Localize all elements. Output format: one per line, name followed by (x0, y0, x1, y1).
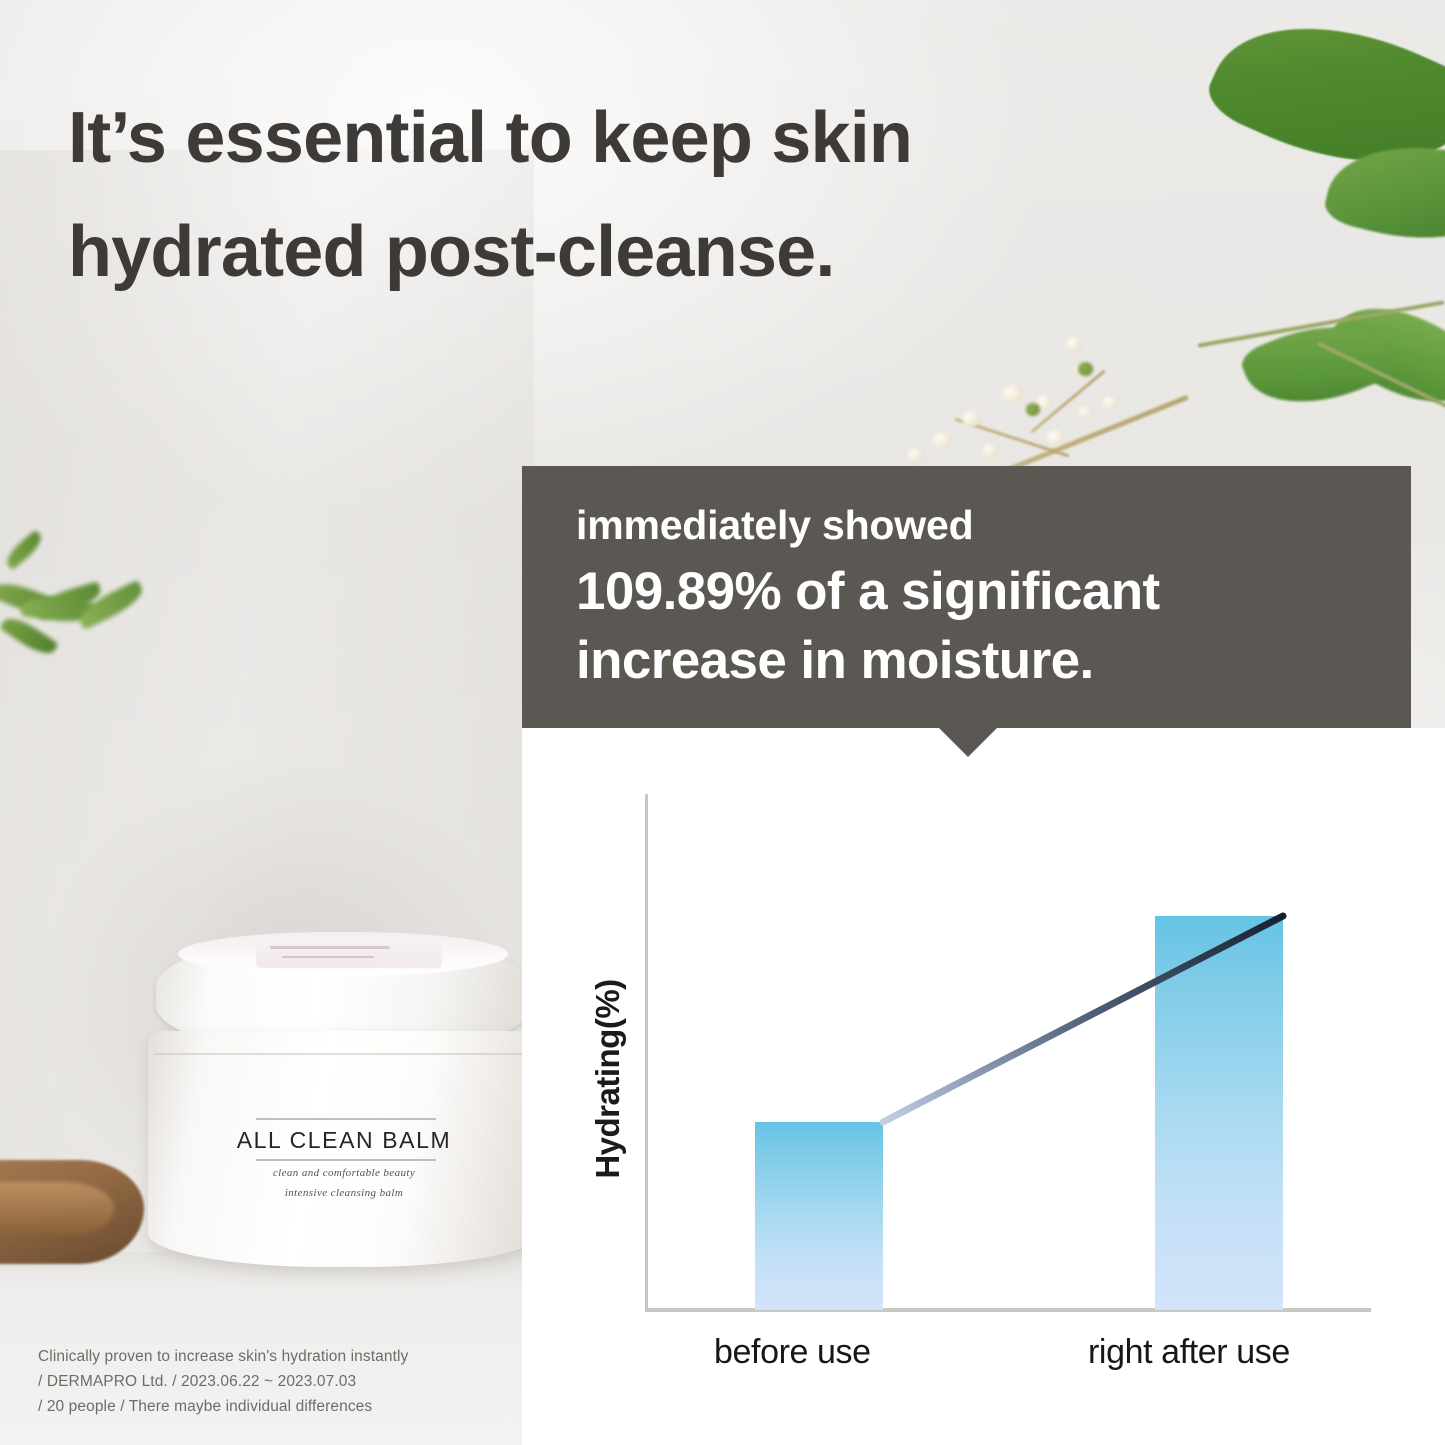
promo-canvas: ALL CLEAN BALM clean and comfortable bea… (0, 0, 1445, 1445)
product-name: ALL CLEAN BALM (148, 1127, 540, 1154)
page-title: It’s essential to keep skin hydrated pos… (68, 82, 1198, 310)
footnote-line-3: / 20 people / There maybe individual dif… (38, 1394, 528, 1419)
headline-line-2: hydrated post-cleanse. (68, 196, 1198, 310)
product-tagline-2: intensive cleansing balm (148, 1187, 540, 1199)
footnote-line-2: / DERMAPRO Ltd. / 2023.06.22 ~ 2023.07.0… (38, 1369, 528, 1394)
headline-line-1: It’s essential to keep skin (68, 82, 1198, 196)
callout-line-2: 109.89% of a significant (576, 558, 1411, 627)
callout-line-3: increase in moisture. (576, 627, 1411, 696)
callout-box: immediately showed 109.89% of a signific… (522, 466, 1411, 728)
footnote: Clinically proven to increase skin's hyd… (38, 1344, 528, 1419)
chart-x-label-right-after-use: right after use (1088, 1333, 1290, 1372)
lid-label (256, 940, 442, 968)
chart-trend-line (645, 780, 1405, 1340)
footnote-line-1: Clinically proven to increase skin's hyd… (38, 1344, 528, 1369)
jar-lid-top (178, 932, 508, 976)
callout-line-1: immediately showed (576, 500, 1411, 550)
jar-seam (154, 1053, 534, 1055)
product-tagline-1: clean and comfortable beauty (148, 1167, 540, 1179)
chart-y-axis-label: Hydrating(%) (589, 949, 627, 1209)
chart-x-label-before-use: before use (714, 1333, 871, 1372)
callout-pointer-icon (938, 727, 998, 757)
wooden-bowl-inner (0, 1182, 114, 1234)
